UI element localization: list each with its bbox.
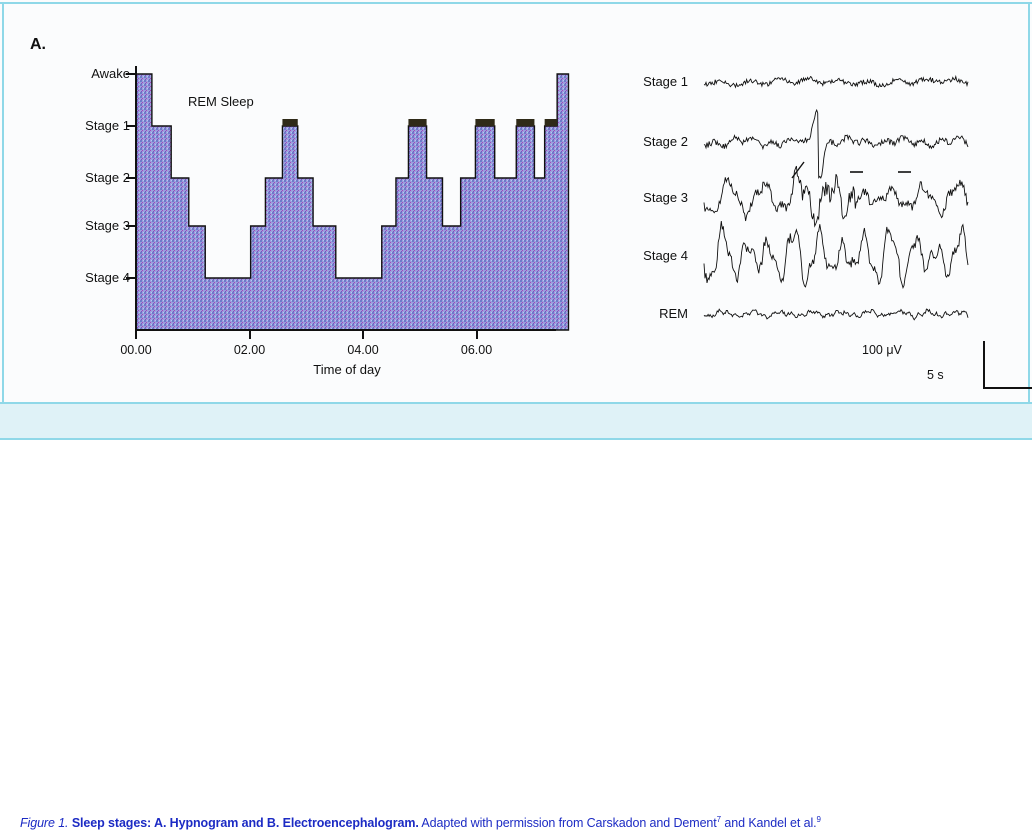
scale-bar-amplitude-label: 100 μV xyxy=(862,343,902,357)
y-tick-label: Stage 1 xyxy=(85,118,130,133)
y-tick-mark xyxy=(126,277,135,279)
hypnogram-rem-markers xyxy=(282,119,557,126)
hypnogram-step-area xyxy=(136,74,568,330)
caption-band: Figure 1. Sleep stages: A. Hypnogram and… xyxy=(0,404,1032,440)
hypnogram-panel: A. REM Sleep AwakeStage 1Stage 2Stage 3S… xyxy=(0,0,580,400)
eeg-label-stage-2: Stage 2 xyxy=(600,134,688,149)
eeg-scale-bar xyxy=(984,341,1032,388)
eeg-trace-stage-4 xyxy=(704,221,968,288)
rem-episode-marker xyxy=(516,119,534,126)
caption-title: Sleep stages: A. Hypnogram and B. Electr… xyxy=(72,816,419,830)
y-tick-label: Stage 2 xyxy=(85,170,130,185)
eeg-trace-stage-3 xyxy=(704,166,968,226)
y-tick-stage-3: Stage 3 xyxy=(60,218,130,234)
caption-source-part-2: and Kandel et al. xyxy=(721,816,817,830)
eeg-trace-stage-1 xyxy=(704,77,968,88)
x-tick-mark xyxy=(362,330,364,339)
caption-reference-9: 9 xyxy=(817,815,821,824)
y-tick-stage-2: Stage 2 xyxy=(60,170,130,186)
hypnogram-area xyxy=(136,74,568,330)
y-tick-stage-1: Stage 1 xyxy=(60,118,130,134)
scale-bar-time-label: 5 s xyxy=(927,368,944,382)
x-tick-mark xyxy=(249,330,251,339)
eeg-label-rem: REM xyxy=(600,306,688,321)
rem-episode-marker xyxy=(475,119,494,126)
eeg-label-stage-1: Stage 1 xyxy=(600,74,688,89)
y-tick-label: Awake xyxy=(91,66,130,81)
x-axis-title: Time of day xyxy=(137,362,557,377)
eeg-label-stage-4: Stage 4 xyxy=(600,248,688,263)
y-tick-mark xyxy=(126,225,135,227)
rem-episode-marker xyxy=(282,119,297,126)
x-tick-label: 04.00 xyxy=(347,343,378,357)
y-tick-stage-4: Stage 4 xyxy=(60,270,130,286)
caption-source-part-1: Adapted with permission from Carskadon a… xyxy=(419,816,717,830)
rem-episode-marker xyxy=(545,119,557,126)
y-tick-label: Stage 3 xyxy=(85,218,130,233)
y-tick-mark xyxy=(126,73,135,75)
x-tick-label: 06.00 xyxy=(461,343,492,357)
eeg-trace-lines xyxy=(704,77,968,320)
figure-root: A. REM Sleep AwakeStage 1Stage 2Stage 3S… xyxy=(0,0,1032,440)
figure-caption: Figure 1. Sleep stages: A. Hypnogram and… xyxy=(20,815,1020,830)
k-complex-marker xyxy=(792,162,804,178)
eeg-trace-stage-2 xyxy=(704,110,968,178)
y-tick-label: Stage 4 xyxy=(85,270,130,285)
eeg-trace-rem xyxy=(704,309,968,320)
x-tick-mark xyxy=(476,330,478,339)
y-tick-mark xyxy=(126,177,135,179)
rem-episode-marker xyxy=(408,119,426,126)
eeg-panel: B. Stage 1Stage 2Stage 3Stage 4REM xyxy=(580,0,1032,400)
hypnogram-plot xyxy=(0,0,580,400)
y-tick-mark xyxy=(126,125,135,127)
x-tick-label: 00.00 xyxy=(120,343,151,357)
y-tick-awake: Awake xyxy=(60,66,130,82)
x-tick-label: 02.00 xyxy=(234,343,265,357)
x-tick-mark xyxy=(135,330,137,339)
eeg-label-stage-3: Stage 3 xyxy=(600,190,688,205)
caption-figure-number: Figure 1. xyxy=(20,816,68,830)
